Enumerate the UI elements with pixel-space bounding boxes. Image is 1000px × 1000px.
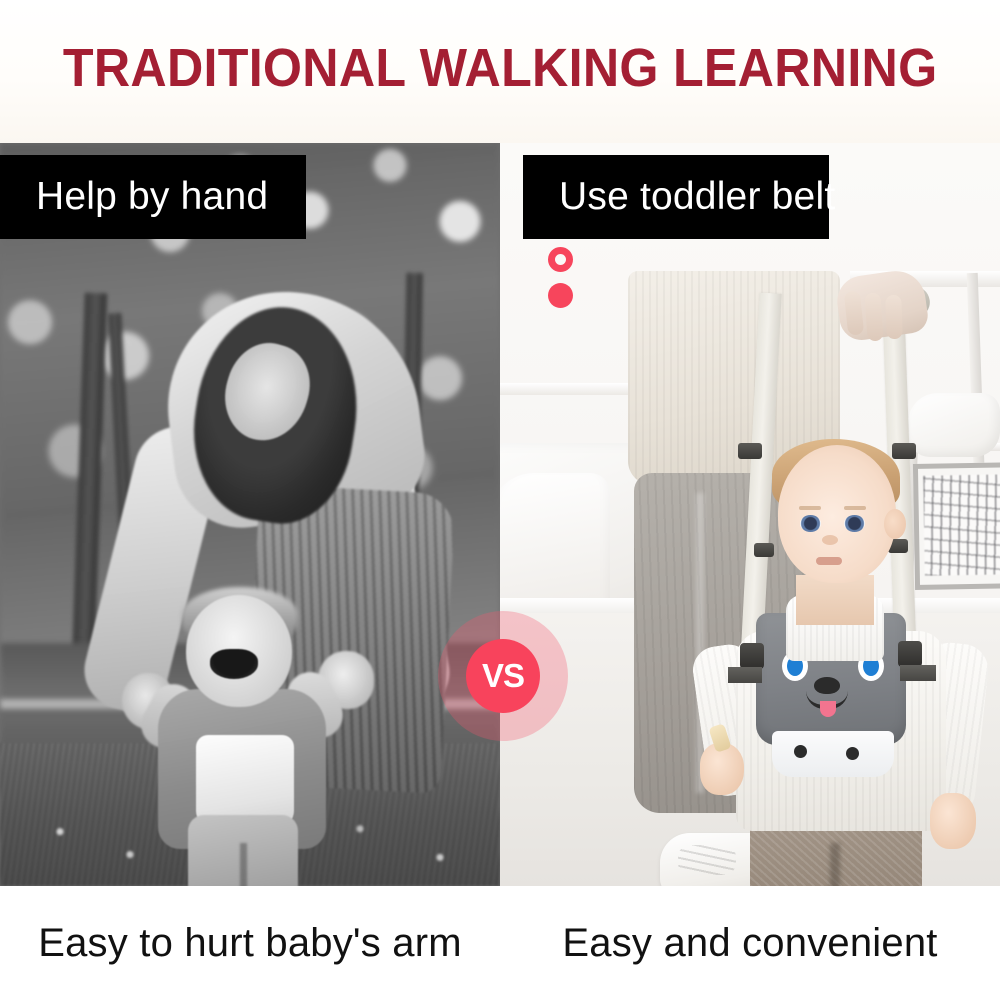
comparison-panel-left: Help by hand	[0, 143, 500, 886]
toddler-leg-gap	[830, 843, 840, 886]
harness-side-buckle	[898, 641, 922, 667]
page-title: TRADITIONAL WALKING LEARNING	[63, 41, 938, 95]
toddler-eye	[800, 515, 821, 532]
circle-outline-icon	[548, 247, 573, 272]
bear-tongue-icon	[820, 701, 836, 717]
harness-buckle	[892, 443, 916, 459]
product-comparison-image: TRADITIONAL WALKING LEARNING	[0, 0, 1000, 1000]
comparison-panel-right: M M	[500, 143, 1000, 886]
toddler-mouth	[816, 557, 842, 565]
folded-cloth	[908, 393, 1000, 457]
adult-sneaker-laces	[678, 845, 736, 875]
adult-finger	[864, 293, 883, 342]
photo-use-toddler-belt: M M	[500, 143, 1000, 886]
circle-filled-icon	[548, 283, 573, 308]
toddler-shirt	[196, 735, 294, 827]
toddler-right-hand	[930, 793, 976, 849]
picture-frame-art	[923, 474, 1000, 576]
toddler-nose	[822, 535, 838, 545]
harness-side-buckle	[740, 643, 764, 669]
toddler-mouth	[210, 649, 258, 679]
decorative-dots	[548, 247, 573, 308]
toddler-leg-gap	[240, 843, 247, 886]
harness-waist-belt	[728, 667, 762, 683]
panel-label-use-toddler-belt: Use toddler belt	[523, 155, 829, 239]
harness-waist-belt	[900, 665, 936, 681]
bear-paw-icon	[794, 745, 807, 758]
adult-finger	[885, 295, 903, 340]
harness-buckle	[738, 443, 762, 459]
toddler-eyebrow	[799, 506, 821, 510]
bear-paw-icon	[846, 747, 859, 760]
toddler-eye	[844, 515, 865, 532]
caption-right: Easy and convenient	[500, 886, 1000, 1000]
header-banner: TRADITIONAL WALKING LEARNING	[0, 0, 1000, 143]
harness-buckle	[754, 543, 774, 557]
caption-row: Easy to hurt baby's arm Easy and conveni…	[0, 886, 1000, 1000]
caption-left: Easy to hurt baby's arm	[0, 886, 500, 1000]
toddler-eyebrow	[844, 506, 866, 510]
panel-label-help-by-hand: Help by hand	[0, 155, 306, 239]
photo-help-by-hand	[0, 143, 500, 886]
harness-bib	[772, 731, 894, 777]
comparison-strip: Help by hand	[0, 143, 1000, 886]
toddler-ear	[884, 509, 906, 539]
